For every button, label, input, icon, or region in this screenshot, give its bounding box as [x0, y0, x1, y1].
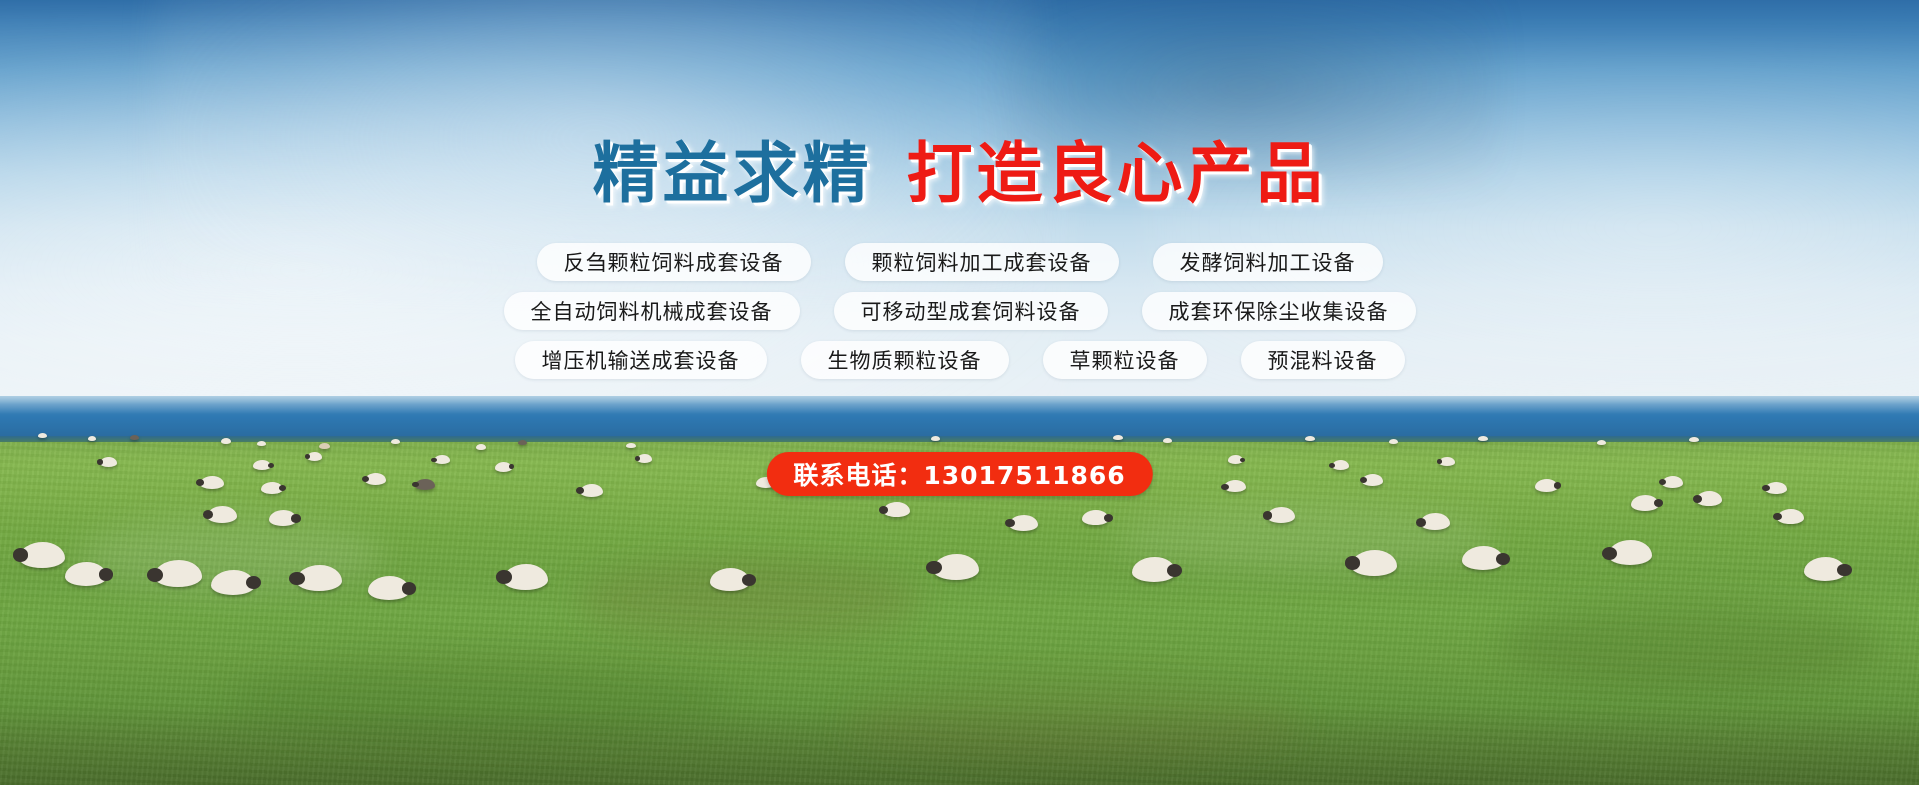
banner-headline: 精益求精打造良心产品: [0, 139, 1919, 209]
sheep: [1420, 513, 1450, 530]
sheep: [1662, 476, 1683, 488]
product-pill[interactable]: 增压机输送成套设备: [515, 341, 767, 379]
sheep: [1696, 491, 1722, 506]
sheep: [1163, 438, 1172, 443]
product-row-1: 反刍颗粒饲料成套设备 颗粒饲料加工成套设备 发酵饲料加工设备: [0, 243, 1919, 281]
product-row-2: 全自动饲料机械成套设备 可移动型成套饲料设备 成套环保除尘收集设备: [0, 292, 1919, 330]
sheep: [65, 562, 107, 586]
sheep: [637, 454, 652, 463]
sheep: [296, 565, 342, 591]
product-pill[interactable]: 草颗粒设备: [1043, 341, 1207, 379]
product-row-3: 增压机输送成套设备 生物质颗粒设备 草颗粒设备 预混料设备: [0, 341, 1919, 379]
sheep: [211, 570, 255, 595]
product-pill[interactable]: 可移动型成套饲料设备: [834, 292, 1108, 330]
sheep: [503, 564, 548, 590]
grass-patch: [844, 682, 1305, 764]
sheep: [269, 510, 297, 526]
sheep: [253, 460, 271, 470]
sheep: [307, 452, 322, 461]
sheep: [1608, 540, 1652, 565]
sheep: [415, 479, 435, 490]
lake-highlight: [0, 396, 1919, 413]
sheep: [368, 576, 410, 600]
sheep: [130, 435, 139, 440]
sheep: [883, 502, 910, 517]
sheep: [1765, 482, 1787, 494]
sheep: [1132, 557, 1176, 582]
sheep: [261, 482, 283, 494]
banner-background-photo: [0, 0, 1919, 785]
contact-phone-badge[interactable]: 联系电话：13017511866: [766, 452, 1152, 496]
sheep: [1082, 510, 1109, 525]
sheep: [1362, 474, 1383, 486]
hero-banner: 精益求精打造良心产品 反刍颗粒饲料成套设备 颗粒饲料加工成套设备 发酵饲料加工设…: [0, 0, 1919, 785]
sheep: [495, 462, 512, 472]
grass-patch: [1497, 600, 1881, 689]
sheep: [1689, 437, 1699, 442]
sheep: [207, 506, 237, 523]
sheep: [391, 439, 400, 444]
sheep: [1113, 435, 1123, 440]
product-category-list: 反刍颗粒饲料成套设备 颗粒饲料加工成套设备 发酵饲料加工设备 全自动饲料机械成套…: [0, 243, 1919, 390]
sheep: [200, 476, 224, 489]
sheep: [319, 443, 330, 449]
product-pill[interactable]: 反刍颗粒饲料成套设备: [537, 243, 811, 281]
sheep: [580, 484, 603, 497]
sheep: [434, 455, 450, 464]
product-pill[interactable]: 全自动饲料机械成套设备: [504, 292, 800, 330]
headline-blue-text: 精益求精: [593, 135, 873, 212]
sheep: [1631, 495, 1659, 511]
sheep: [1462, 546, 1504, 570]
sheep: [626, 443, 636, 448]
product-pill[interactable]: 生物质颗粒设备: [801, 341, 1009, 379]
product-pill[interactable]: 预混料设备: [1241, 341, 1405, 379]
sheep: [1009, 515, 1038, 531]
sheep: [221, 438, 231, 444]
sheep: [1535, 479, 1558, 492]
sheep: [518, 440, 527, 445]
grass-patch: [576, 559, 921, 641]
product-pill[interactable]: 成套环保除尘收集设备: [1142, 292, 1416, 330]
sheep: [1351, 550, 1397, 576]
product-pill[interactable]: 颗粒饲料加工成套设备: [845, 243, 1119, 281]
sheep: [1228, 455, 1243, 464]
sheep: [1597, 440, 1606, 445]
product-pill[interactable]: 发酵饲料加工设备: [1153, 243, 1383, 281]
sheep: [1305, 436, 1315, 441]
sheep: [154, 560, 202, 587]
sheep: [1389, 439, 1398, 444]
grass-patch: [230, 655, 729, 744]
sheep: [933, 554, 979, 580]
sheep: [1267, 507, 1295, 523]
sheep: [100, 457, 117, 467]
sheep: [1804, 557, 1846, 581]
headline-red-text: 打造良心产品: [907, 135, 1327, 212]
sheep: [1332, 460, 1349, 470]
sheep: [1777, 509, 1804, 524]
sheep: [710, 568, 750, 591]
sheep: [1439, 457, 1455, 466]
sheep: [365, 473, 386, 485]
